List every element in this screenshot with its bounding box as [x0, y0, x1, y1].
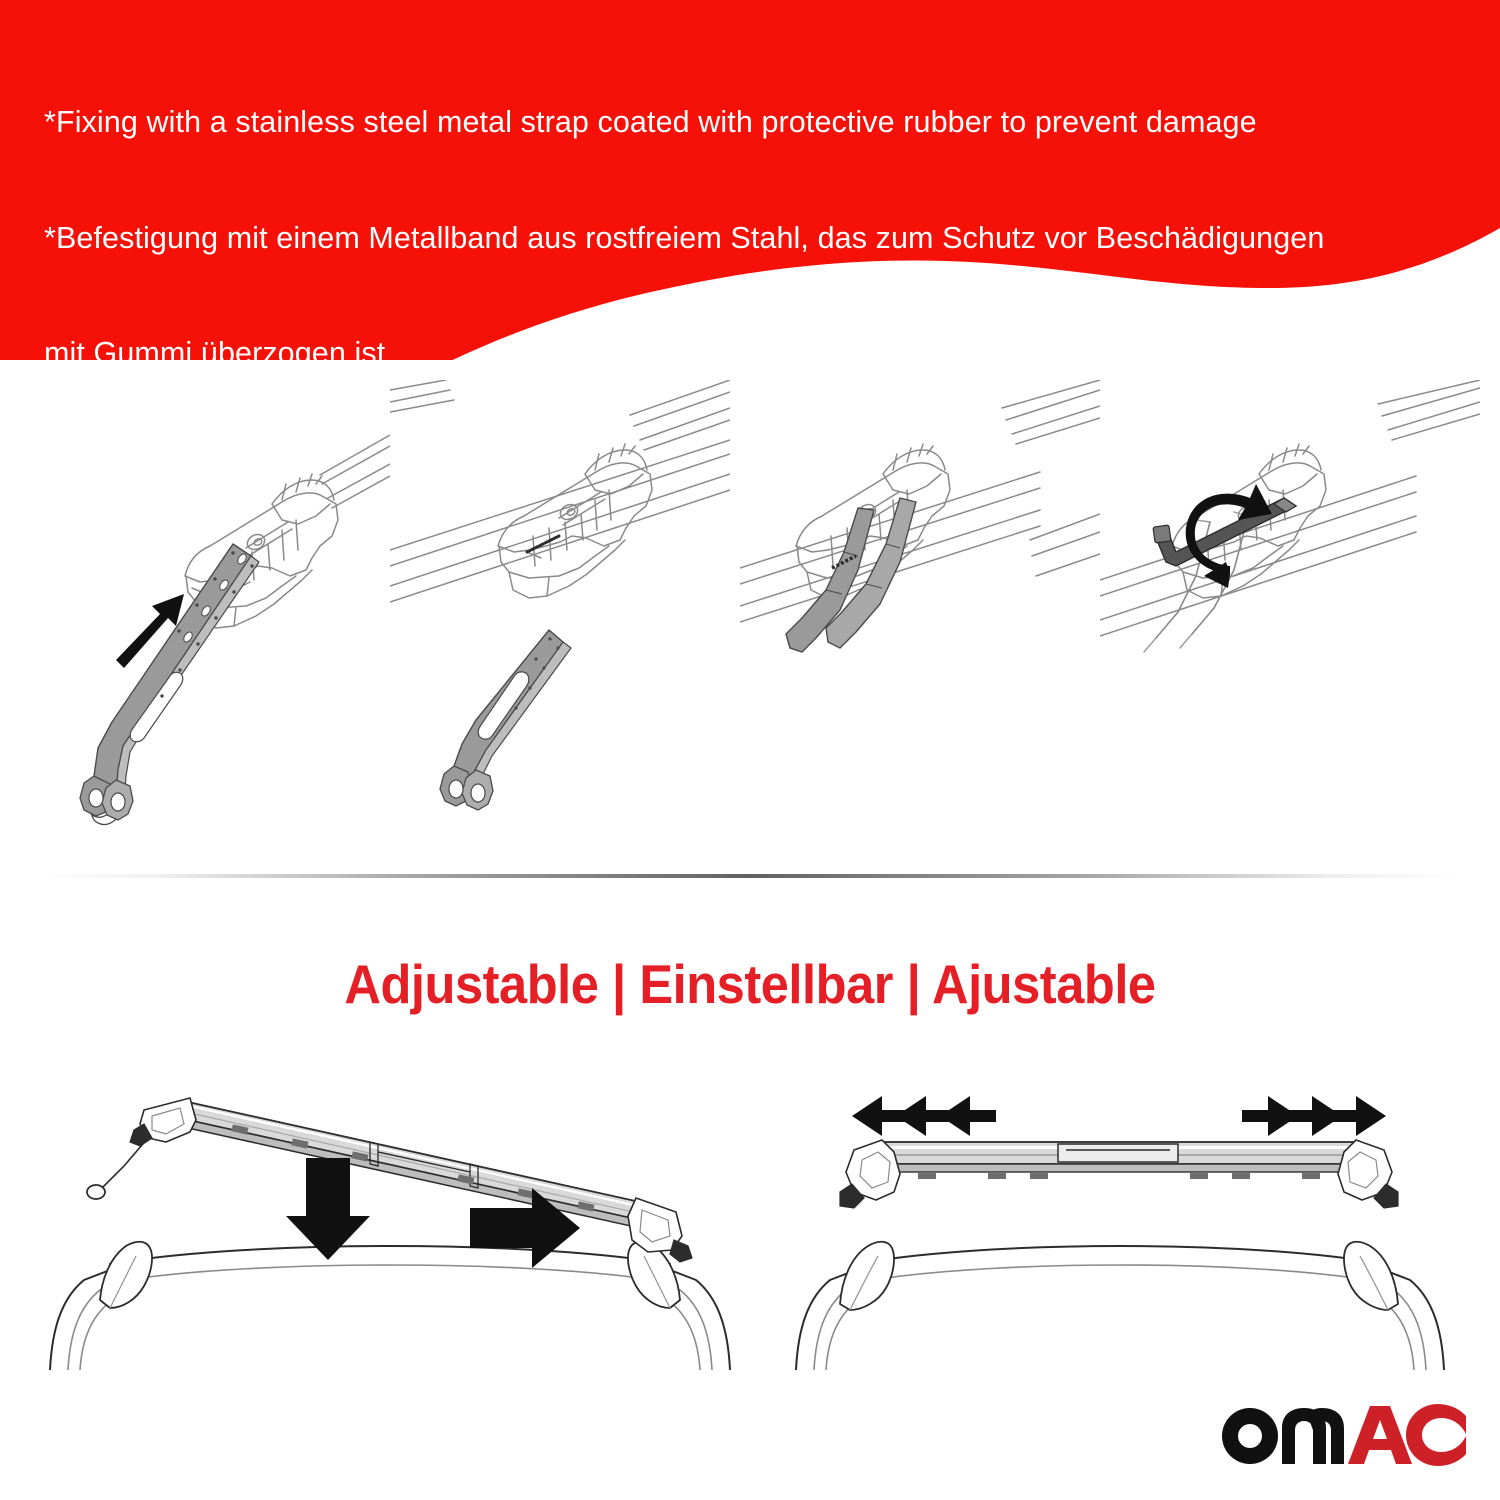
step-1-illustration: [20, 380, 390, 860]
step-panel-strap-under-rail: [390, 380, 730, 860]
diagram-mount-crossbar: [40, 1080, 740, 1370]
crossbar: [87, 1098, 692, 1262]
step-3-illustration: [740, 380, 1100, 860]
logo-letter-m: [1282, 1408, 1344, 1464]
omac-logo-mark: [1214, 1394, 1466, 1466]
step-panel-tighten-allen-key: [1100, 380, 1480, 860]
metal-strap-part: [440, 630, 571, 810]
step-4-illustration: [1100, 380, 1480, 860]
section-divider: [40, 874, 1460, 878]
mount-crossbar-illustration: [40, 1080, 740, 1370]
triple-right-arrow-icon: [1242, 1096, 1386, 1136]
adjustable-headline: Adjustable | Einstellbar | Ajustable: [60, 952, 1440, 1016]
banner-line-de-1: *Befestigung mit einem Metallband aus ro…: [44, 219, 1464, 258]
triple-left-arrow-icon: [852, 1096, 996, 1136]
down-arrow-icon: [286, 1158, 370, 1260]
banner-line-de-2: mit Gummi überzogen ist: [44, 334, 1464, 373]
step-panel-strap-wrapped: [740, 380, 1100, 860]
wrapped-strap: [786, 498, 916, 652]
installation-steps: [0, 380, 1500, 860]
crossbar: [840, 1140, 1398, 1208]
metal-strap-part: [80, 544, 259, 824]
logo-letter-a: [1348, 1406, 1412, 1464]
header-banner: *Fixing with a stainless steel metal str…: [0, 0, 1500, 360]
step-panel-insert-strap: [20, 380, 390, 860]
logo-letter-o: [1222, 1408, 1278, 1464]
step-2-illustration: [390, 380, 730, 860]
adjust-width-illustration: [790, 1080, 1450, 1370]
omac-logo: [1214, 1394, 1466, 1466]
logo-letter-c: [1406, 1404, 1466, 1466]
diagram-adjust-crossbar-width: [790, 1080, 1450, 1370]
banner-line-en: *Fixing with a stainless steel metal str…: [44, 103, 1464, 142]
